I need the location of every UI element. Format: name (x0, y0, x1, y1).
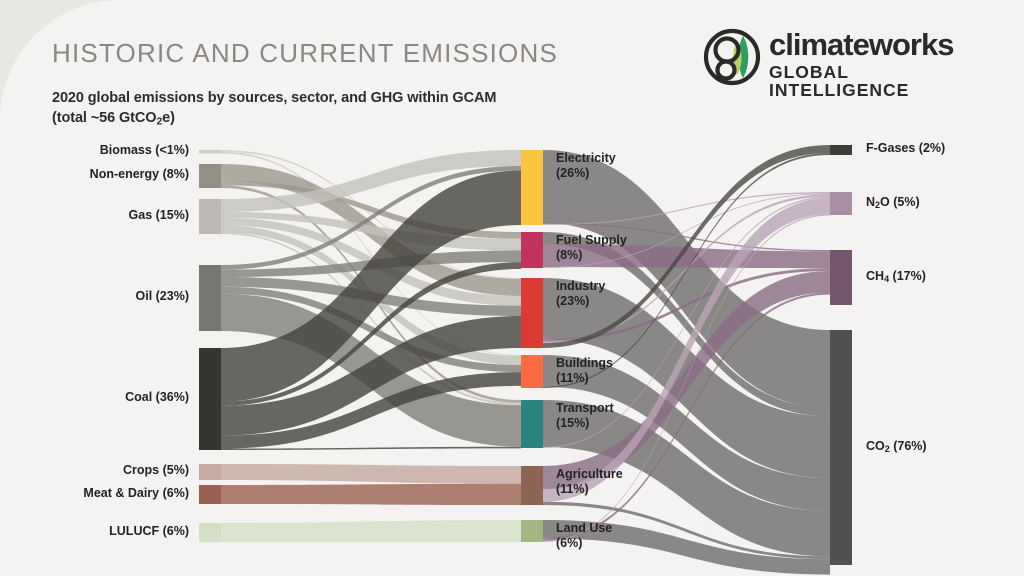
sankey-node-fuelsupply[interactable] (521, 232, 543, 268)
sankey-node-electricity[interactable] (521, 150, 543, 225)
node-label-industry: Industry(23%) (556, 279, 605, 310)
node-label-transport: Transport(15%) (556, 401, 614, 432)
node-label-ch4: CH4 (17%) (866, 269, 926, 285)
sankey-node-crops[interactable] (199, 464, 221, 480)
sankey-node-transport[interactable] (521, 400, 543, 448)
sankey-link (221, 520, 521, 542)
node-label-meatdairy: Meat & Dairy (6%) (83, 486, 189, 501)
node-label-nonenergy: Non-energy (8%) (90, 167, 189, 182)
sankey-node-ch4[interactable] (830, 250, 852, 305)
node-label-biomass: Biomass (<1%) (100, 143, 189, 158)
sankey-node-co2[interactable] (830, 330, 852, 565)
node-label-oil: Oil (23%) (136, 289, 190, 304)
node-label-coal: Coal (36%) (125, 390, 189, 405)
sankey-node-coal[interactable] (199, 348, 221, 450)
sankey-node-biomass[interactable] (199, 150, 221, 154)
sankey-node-gas[interactable] (199, 199, 221, 234)
sankey-node-fgases[interactable] (830, 145, 852, 155)
sankey-node-agriculture[interactable] (521, 466, 543, 505)
sankey-node-industry[interactable] (521, 278, 543, 348)
node-label-co2: CO2 (76%) (866, 439, 927, 455)
node-label-buildings: Buildings(11%) (556, 356, 613, 387)
sankey-link (221, 447, 521, 450)
sankey-link (221, 484, 521, 505)
sankey-node-meatdairy[interactable] (199, 485, 221, 504)
sankey-node-landuse[interactable] (521, 520, 543, 542)
sankey-node-lulucf[interactable] (199, 523, 221, 542)
sankey-node-oil[interactable] (199, 265, 221, 331)
node-label-lulucf: LULUCF (6%) (109, 524, 189, 539)
infographic-stage: HISTORIC AND CURRENT EMISSIONS 2020 glob… (0, 0, 1024, 576)
sankey-node-n2o[interactable] (830, 192, 852, 215)
sankey-link (221, 464, 521, 484)
node-label-landuse: Land Use(6%) (556, 521, 612, 552)
node-label-agriculture: Agriculture(11%) (556, 467, 623, 498)
node-label-fuelsupply: Fuel Supply(8%) (556, 233, 627, 264)
node-label-crops: Crops (5%) (123, 463, 189, 478)
node-label-n2o: N2O (5%) (866, 195, 920, 211)
sankey-node-buildings[interactable] (521, 355, 543, 388)
node-label-fgases: F-Gases (2%) (866, 141, 945, 156)
node-label-electricity: Electricity(26%) (556, 151, 616, 182)
node-label-gas: Gas (15%) (129, 208, 189, 223)
sankey-node-nonenergy[interactable] (199, 164, 221, 188)
